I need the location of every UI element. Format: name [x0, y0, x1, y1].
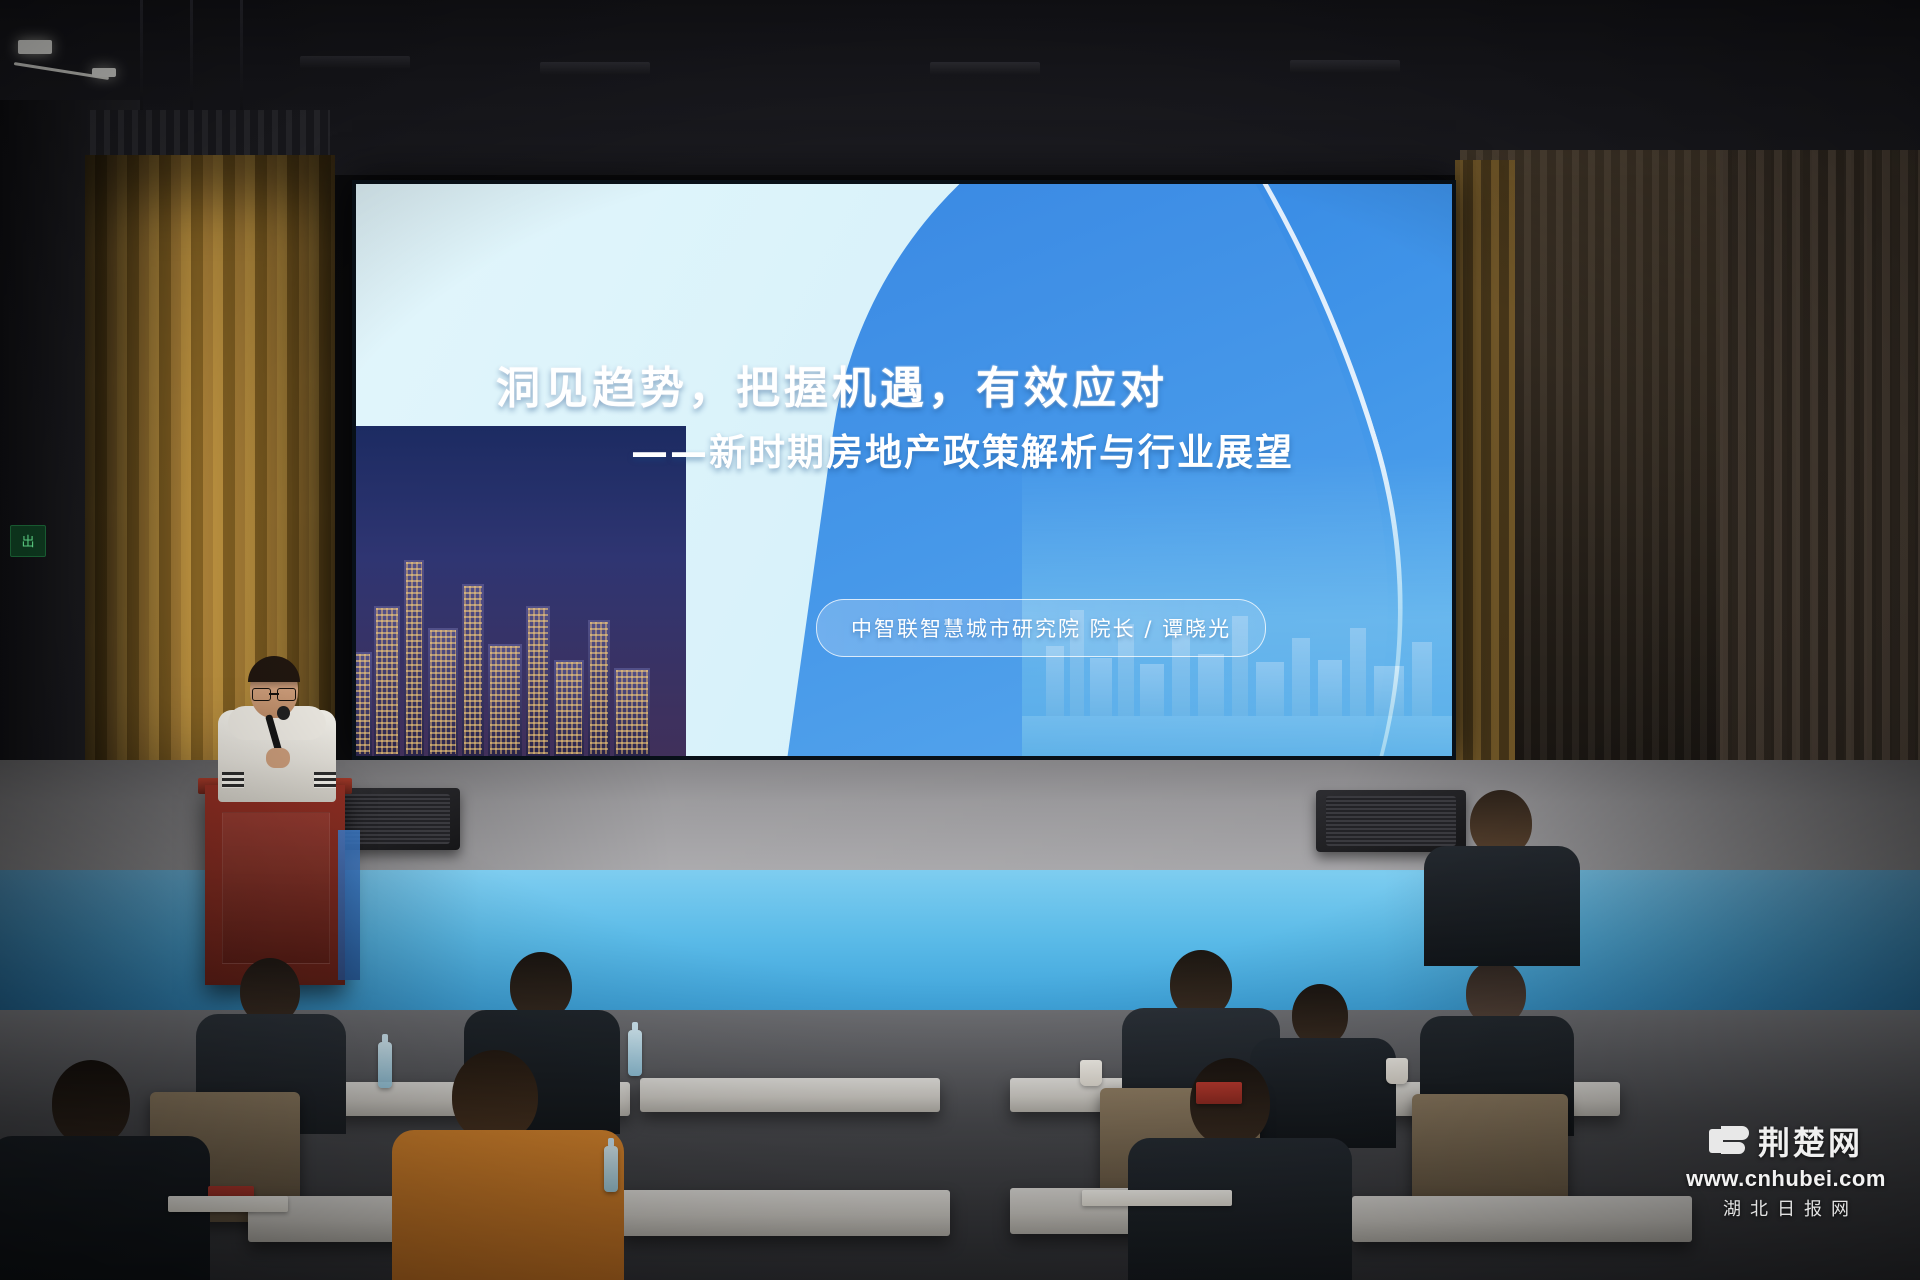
- podium-side-accent: [338, 830, 360, 980]
- presenter-glasses: [252, 688, 296, 699]
- water-bottle: [378, 1042, 392, 1088]
- water-bottle: [628, 1030, 642, 1076]
- watermark-brand: 荆楚网: [1758, 1118, 1863, 1164]
- stage-curtain-right: [1455, 160, 1515, 850]
- conference-photo: 出: [0, 0, 1920, 1280]
- presentation-slide: 洞见趋势，把握机遇，有效应对 ——新时期房地产政策解析与行业展望 中智联智慧城市…: [356, 184, 1452, 756]
- watermark-publisher: 湖北日报网: [1668, 1195, 1904, 1221]
- ceiling-bar: [930, 62, 1040, 75]
- exit-sign: 出: [10, 525, 46, 557]
- stage-light: [18, 40, 52, 54]
- stage-monitor-right: [1316, 790, 1466, 852]
- slide-subtitle: ——新时期房地产政策解析与行业展望: [631, 422, 1452, 476]
- cnhubei-logo-icon: [1709, 1124, 1749, 1158]
- watermark: 荆楚网 www.cnhubei.com 湖北日报网: [1668, 1118, 1904, 1221]
- stage-light: [92, 68, 116, 77]
- audience-table-front: [1352, 1196, 1692, 1242]
- ceiling-bar: [300, 56, 410, 69]
- slide-speaker-badge: 中智联智慧城市研究院 院长 / 谭晓光: [816, 599, 1266, 657]
- ceiling-bar: [1290, 60, 1400, 73]
- watermark-url: www.cnhubei.com: [1668, 1166, 1904, 1192]
- microphone-head: [277, 706, 290, 720]
- wall-slats-far-right: [1720, 150, 1920, 850]
- presenter-cuff: [222, 772, 244, 788]
- handout-paper: [1082, 1190, 1232, 1206]
- audience-table-front: [620, 1190, 950, 1236]
- ceiling-beam: [240, 0, 243, 120]
- presenter-hand: [266, 748, 290, 768]
- ceiling-beam: [190, 0, 193, 120]
- presenter-cuff: [314, 772, 336, 788]
- slide-title: 洞见趋势，把握机遇，有效应对: [496, 352, 1426, 416]
- paper-cup: [1080, 1060, 1102, 1086]
- red-booklet: [1196, 1082, 1242, 1104]
- paper-cup: [1386, 1058, 1408, 1084]
- ceiling-beam: [140, 0, 143, 120]
- ceiling-bar: [540, 62, 650, 75]
- handout-paper: [168, 1196, 288, 1212]
- water-bottle: [604, 1146, 618, 1192]
- podium-front-panel: [222, 812, 330, 964]
- audience-table: [640, 1078, 940, 1112]
